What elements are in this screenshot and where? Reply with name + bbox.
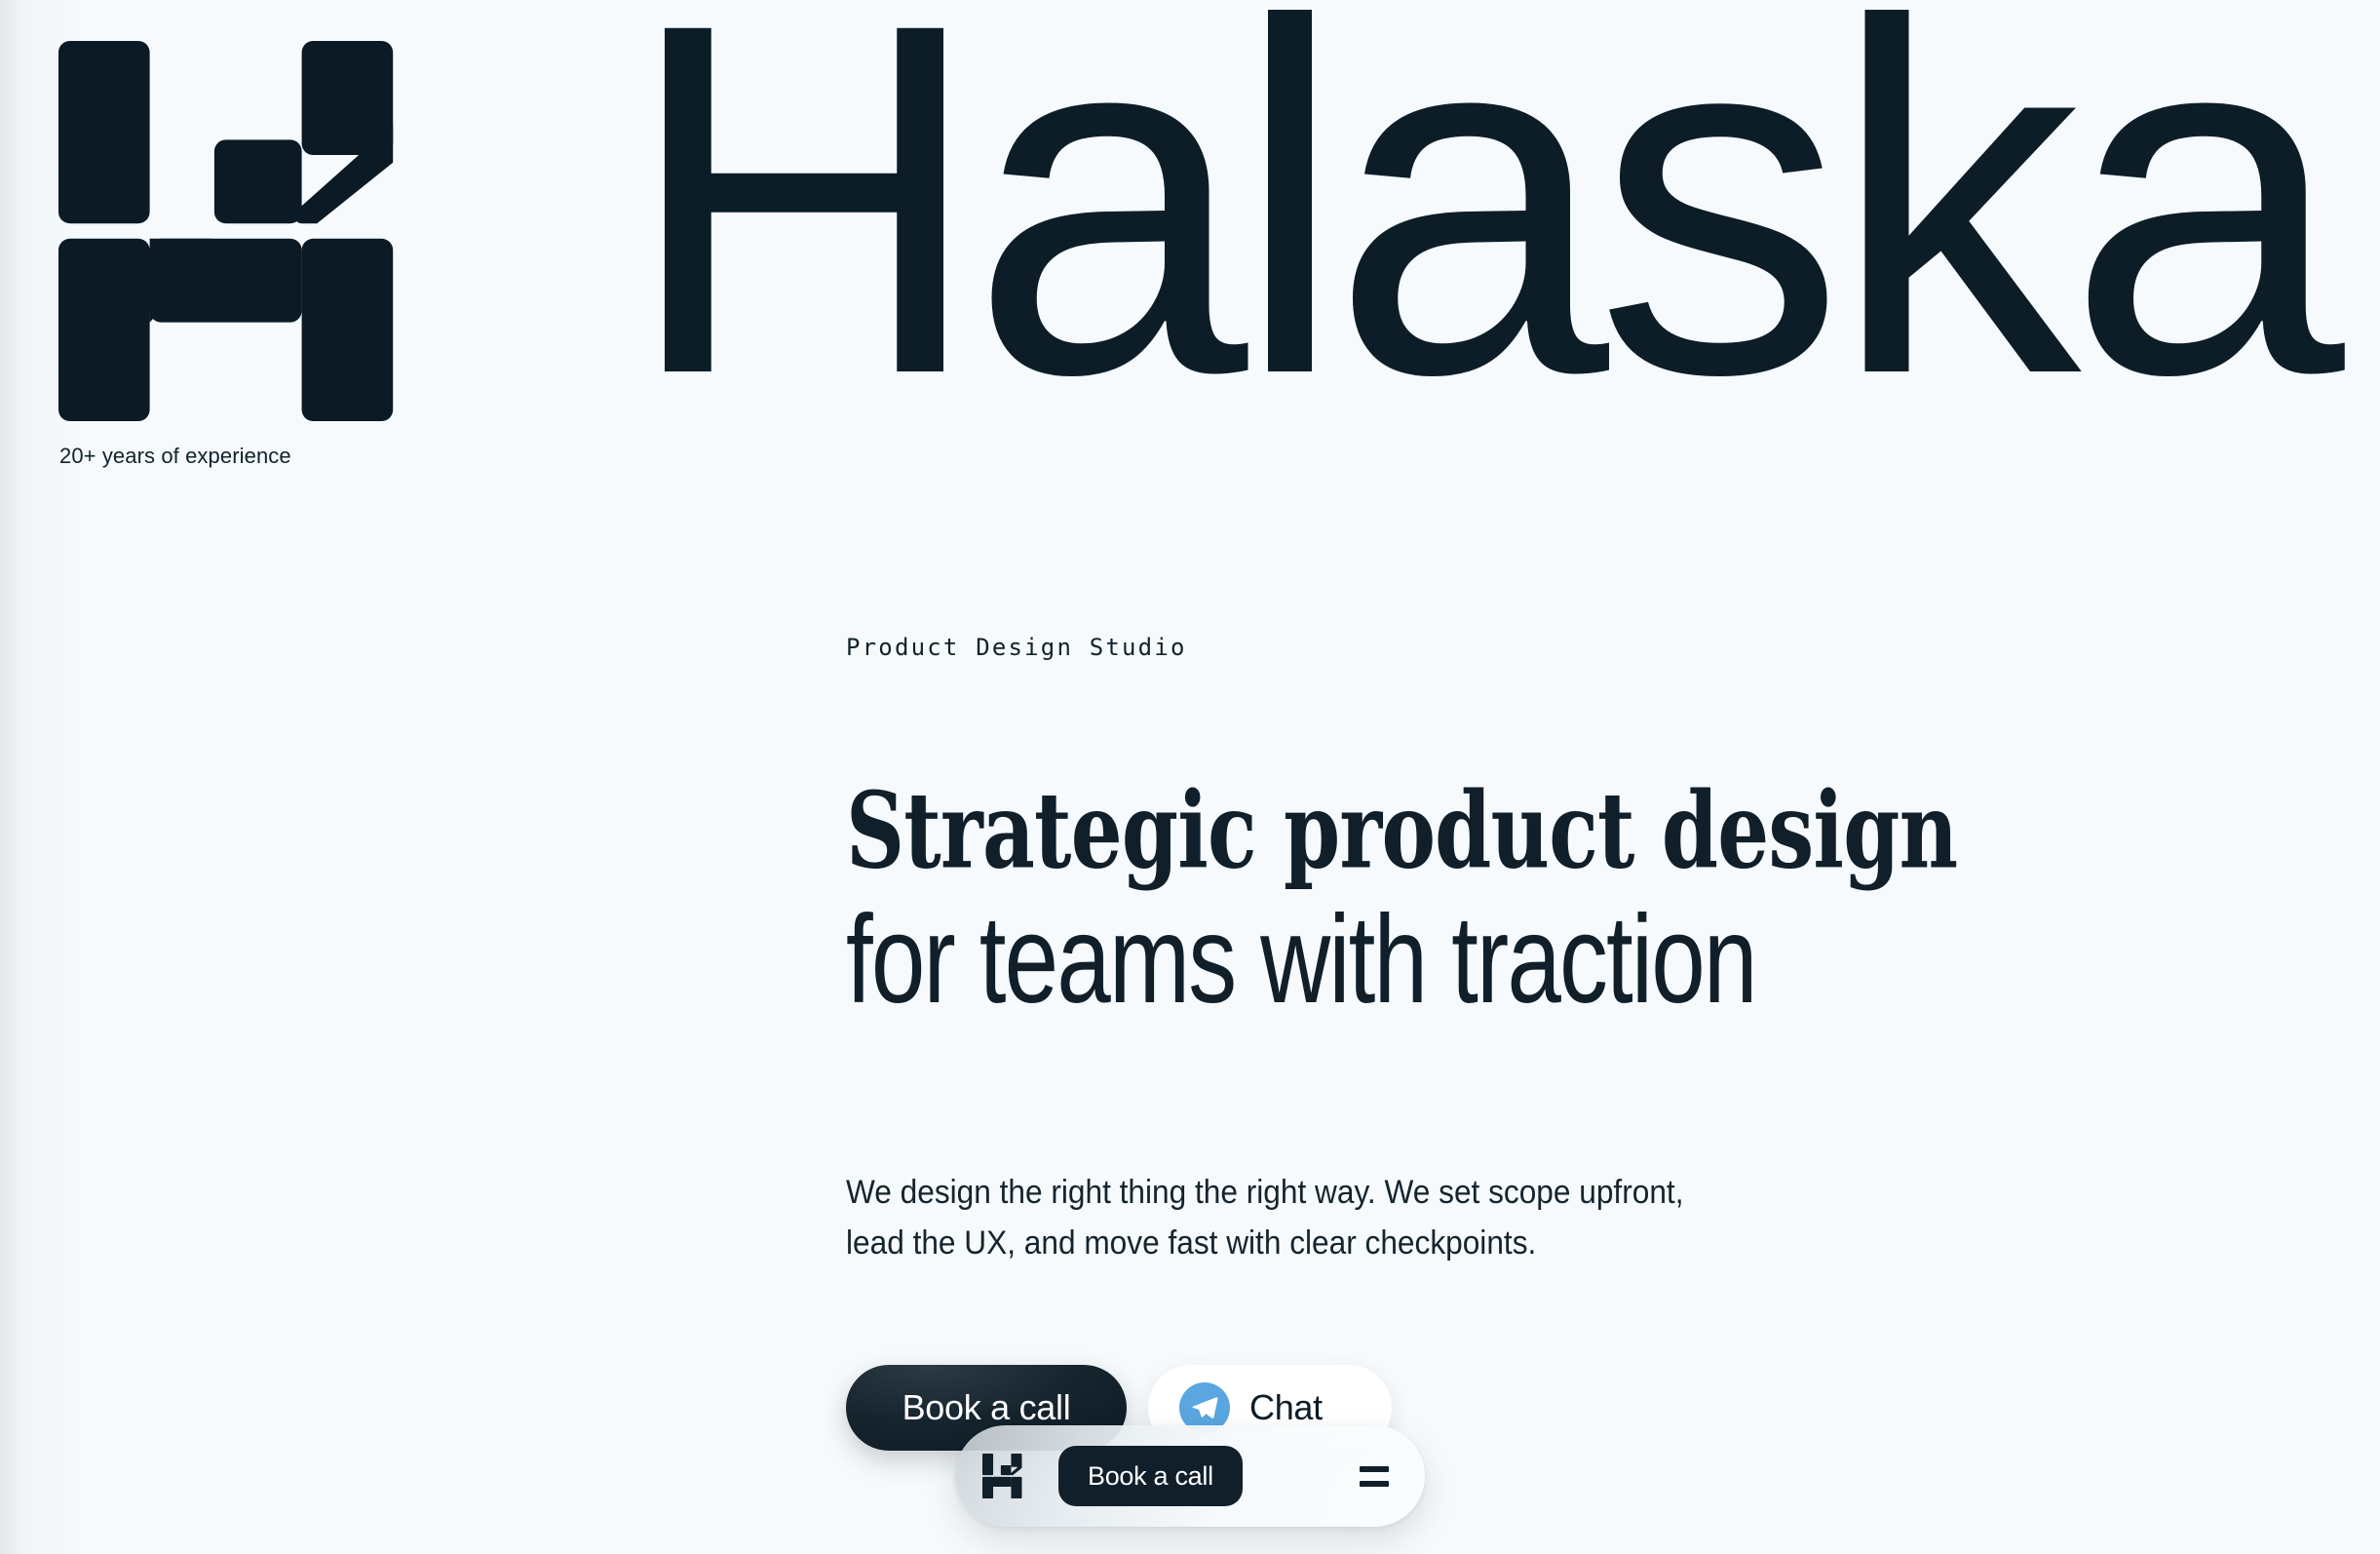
page-stage: Halaska 20+ years of experience Product … [0, 0, 2380, 1554]
floating-nav-bar: Book a call [955, 1425, 1425, 1527]
page-title: Strategic product design for teams with … [846, 776, 2230, 1029]
headline-line-1: Strategic product design [846, 774, 1953, 888]
headline-line-2: for teams with traction [846, 893, 1926, 1028]
hero-section: Product Design Studio Strategic product … [846, 634, 2230, 1269]
hamburger-bar-bottom [1360, 1481, 1389, 1487]
masthead: Halaska 20+ years of experience [0, 0, 2380, 458]
nav-book-a-call-button[interactable]: Book a call [1058, 1446, 1243, 1506]
hamburger-bar-top [1360, 1466, 1389, 1472]
brand-wordmark: Halaska [624, 0, 2331, 448]
hamburger-menu-icon[interactable] [1349, 1451, 1400, 1501]
hero-description: We design the right thing the right way.… [846, 1167, 2133, 1269]
halaska-h-monogram-icon[interactable] [982, 1454, 1027, 1498]
experience-note: 20+ years of experience [59, 444, 291, 469]
hero-eyebrow: Product Design Studio [846, 634, 2230, 661]
hero-description-line-1: We design the right thing the right way.… [846, 1167, 2133, 1219]
hero-description-line-2: lead the UX, and move fast with clear ch… [846, 1218, 2133, 1269]
halaska-h-monogram-icon [58, 41, 439, 421]
chat-button-label: Chat [1249, 1387, 1323, 1428]
